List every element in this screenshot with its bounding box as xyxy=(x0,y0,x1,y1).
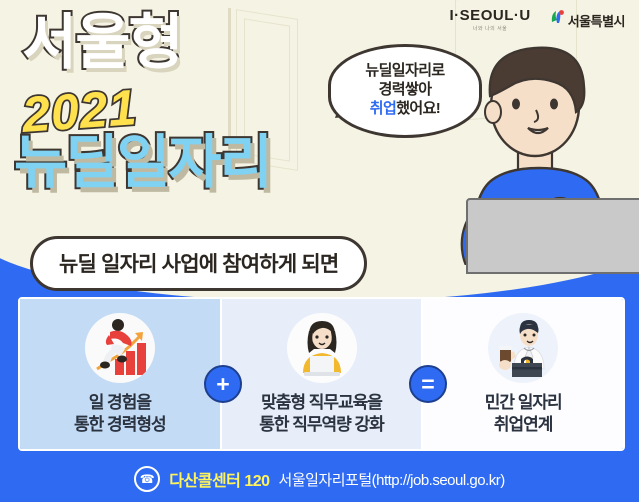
logo-group: I·SEOUL·U 너와 나의 서울 서울특별시 xyxy=(450,8,625,32)
seoul-metropolitan-name: 서울특별시 xyxy=(568,11,625,30)
woman-at-laptop-icon xyxy=(287,313,357,383)
haechi-mark-icon xyxy=(549,9,565,31)
iseoulu-tagline: 너와 나의 서울 xyxy=(450,25,531,32)
iseoulu-wordmark: I·SEOUL·U xyxy=(450,8,531,23)
benefit-cards: 일 경험을 통한 경력형성 xyxy=(18,297,625,451)
speech-bubble: 뉴딜일자리로 경력쌓아 취업했어요! xyxy=(328,44,482,138)
speech-bubble-line-3-rest: 했어요! xyxy=(396,100,440,117)
benefit-card-label-line-2: 통한 직무역량 강화 xyxy=(259,414,384,436)
phone-icon: ☎ xyxy=(134,466,160,492)
poster-root: I·SEOUL·U 너와 나의 서울 서울특별시 서울형 2021 뉴딜일자리 … xyxy=(0,0,639,502)
benefit-card-job-training: 맞춤형 직무교육을 통한 직무역량 강화 xyxy=(222,299,422,449)
benefit-card-work-experience: 일 경험을 통한 경력형성 xyxy=(20,299,220,449)
equals-connector-badge: = xyxy=(409,365,447,403)
speech-bubble-line-1: 뉴딜일자리로 xyxy=(341,61,469,80)
call-center-text: 다산콜센터 120 xyxy=(169,467,269,491)
benefit-card-label: 일 경험을 통한 경력형성 xyxy=(74,392,166,436)
headline-line-3: 뉴딜일자리 xyxy=(14,134,271,192)
footer-bar: ☎ 다산콜센터 120 서울일자리포털(http://job.seoul.go.… xyxy=(0,466,639,492)
benefit-card-label-line-1: 일 경험을 xyxy=(74,392,166,414)
plus-connector-badge: + xyxy=(204,365,242,403)
benefit-card-label-line-2: 취업연계 xyxy=(485,414,562,436)
seoul-metropolitan-logo: 서울특별시 xyxy=(549,9,625,31)
benefit-card-label-line-1: 민간 일자리 xyxy=(485,392,562,414)
speech-bubble-line-2: 경력쌓아 xyxy=(341,80,469,99)
speech-bubble-line-3: 취업했어요! xyxy=(341,99,469,118)
benefit-card-private-job-link: 민간 일자리 취업연계 xyxy=(423,299,623,449)
laptop-illustration xyxy=(466,198,639,274)
benefit-card-label-line-2: 통한 경력형성 xyxy=(74,414,166,436)
subtitle-banner: 뉴딜 일자리 사업에 참여하게 되면 xyxy=(30,236,367,291)
job-portal-text[interactable]: 서울일자리포털(http://job.seoul.go.kr) xyxy=(279,469,505,490)
speech-bubble-highlight: 취업 xyxy=(370,100,396,117)
benefit-card-label: 민간 일자리 취업연계 xyxy=(485,392,562,436)
benefit-card-label: 맞춤형 직무교육을 통한 직무역량 강화 xyxy=(259,392,384,436)
benefit-card-label-line-1: 맞춤형 직무교육을 xyxy=(259,392,384,414)
iseoulu-logo: I·SEOUL·U 너와 나의 서울 xyxy=(450,8,531,32)
office-worker-with-briefcase-icon xyxy=(488,313,558,383)
person-climbing-bar-chart-icon xyxy=(85,313,155,383)
